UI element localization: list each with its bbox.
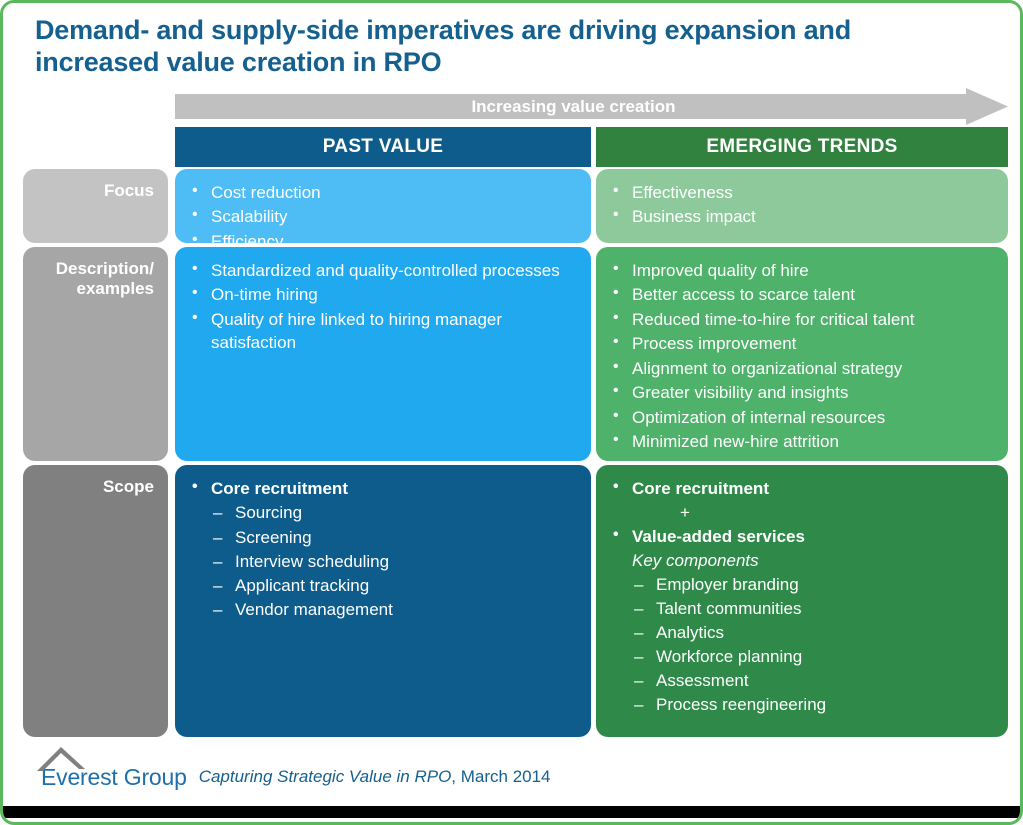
bullet-list: Value-added services	[608, 525, 994, 548]
row-label-scope: Scope	[23, 465, 168, 737]
everest-group-logo: Everest Group	[41, 764, 187, 791]
list-item: Scalability	[187, 205, 577, 228]
list-item: Interview scheduling	[211, 550, 577, 574]
list-item: Alignment to organizational strategy	[608, 357, 994, 380]
column-header-emerging-trends: EMERGING TRENDS	[596, 127, 1008, 167]
list-item: Reduced time-to-hire for critical talent	[608, 308, 994, 331]
list-item-heading: Value-added services	[608, 525, 994, 548]
cell-description-past-value: Standardized and quality-controlled proc…	[175, 247, 591, 461]
list-item: Employer branding	[632, 573, 994, 597]
row-label-description-examples: Description/ examples	[23, 247, 168, 461]
list-item: Standardized and quality-controlled proc…	[187, 259, 577, 282]
list-item: Sourcing	[211, 501, 577, 525]
list-item: Effectiveness	[608, 181, 994, 204]
dash-list: Sourcing Screening Interview scheduling …	[187, 501, 577, 622]
list-item: Applicant tracking	[211, 574, 577, 598]
list-item-heading: Core recruitment	[187, 477, 577, 500]
list-item: Vendor management	[211, 598, 577, 622]
bottom-black-band	[3, 806, 1020, 818]
bullet-list: Standardized and quality-controlled proc…	[187, 259, 577, 355]
bullet-list: Improved quality of hire Better access t…	[608, 259, 994, 454]
list-item: Optimization of internal resources	[608, 406, 994, 429]
cell-scope-emerging-trends: Core recruitment + Value-added services …	[596, 465, 1008, 737]
mountain-peak-icon	[35, 746, 87, 772]
cell-focus-past-value: Cost reduction Scalability Efficiency	[175, 169, 591, 243]
bullet-list: Cost reduction Scalability Efficiency	[187, 181, 577, 253]
bullet-list: Effectiveness Business impact	[608, 181, 994, 229]
list-item-heading: Core recruitment	[608, 477, 994, 500]
page-title: Demand- and supply-side imperatives are …	[35, 15, 975, 79]
list-item: Better access to scarce talent	[608, 283, 994, 306]
cell-description-emerging-trends: Improved quality of hire Better access t…	[596, 247, 1008, 461]
dash-list: Employer branding Talent communities Ana…	[608, 573, 994, 718]
cell-scope-past-value: Core recruitment Sourcing Screening Inte…	[175, 465, 591, 737]
bullet-list: Core recruitment	[187, 477, 577, 500]
row-label-focus: Focus	[23, 169, 168, 243]
list-item: Greater visibility and insights	[608, 381, 994, 404]
list-item: Quality of hire linked to hiring manager…	[187, 308, 577, 355]
plus-connector: +	[608, 501, 994, 524]
footer-caption-title: Capturing Strategic Value in RPO	[199, 767, 452, 786]
increasing-value-arrow: Increasing value creation	[175, 88, 1008, 125]
footer: Everest Group Capturing Strategic Value …	[3, 748, 1020, 806]
footer-caption: Capturing Strategic Value in RPO, March …	[199, 767, 551, 787]
slide-canvas: Demand- and supply-side imperatives are …	[0, 0, 1023, 825]
list-item: On-time hiring	[187, 283, 577, 306]
cell-focus-emerging-trends: Effectiveness Business impact	[596, 169, 1008, 243]
column-header-past-value: PAST VALUE	[175, 127, 591, 167]
subheading-key-components: Key components	[608, 549, 994, 572]
list-item: Screening	[211, 526, 577, 550]
list-item: Talent communities	[632, 597, 994, 621]
bullet-list: Core recruitment	[608, 477, 994, 500]
list-item: Analytics	[632, 621, 994, 645]
list-item: Workforce planning	[632, 645, 994, 669]
list-item: Cost reduction	[187, 181, 577, 204]
list-item: Process reengineering	[632, 693, 994, 717]
list-item: Process improvement	[608, 332, 994, 355]
footer-caption-date: , March 2014	[451, 767, 550, 786]
list-item: Assessment	[632, 669, 994, 693]
arrow-label: Increasing value creation	[175, 88, 1008, 125]
list-item: Business impact	[608, 205, 994, 228]
list-item: Minimized new-hire attrition	[608, 430, 994, 453]
list-item: Improved quality of hire	[608, 259, 994, 282]
